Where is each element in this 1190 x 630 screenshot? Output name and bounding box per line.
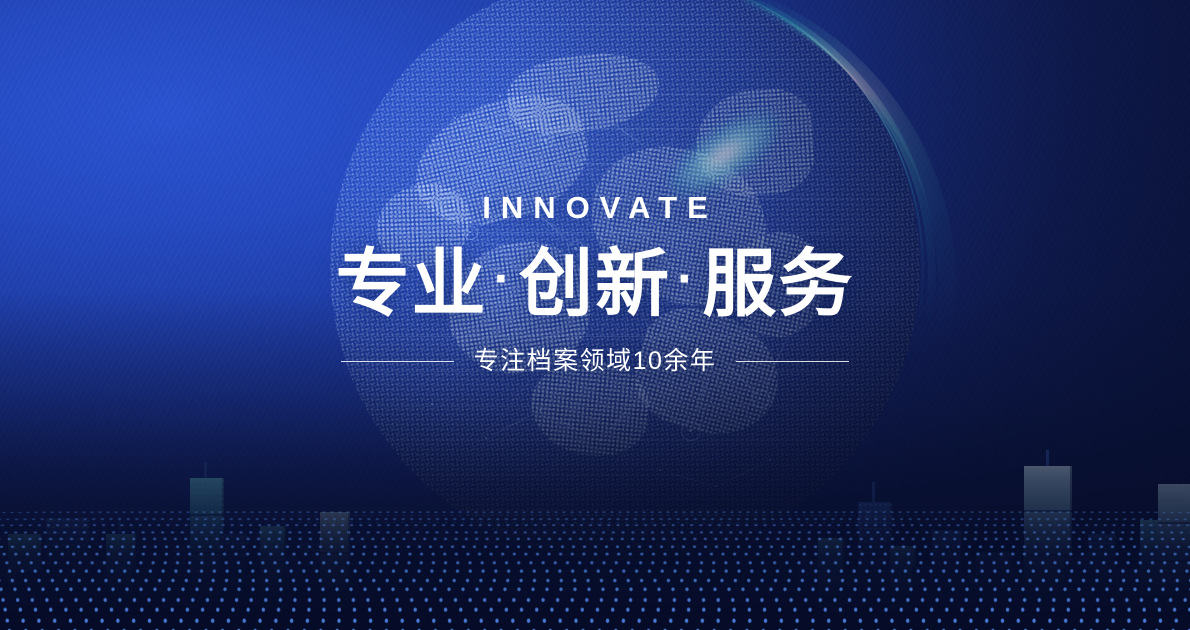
hero-content: INNOVATE 专业·创新·服务 专注档案领域10余年 [0,0,1190,374]
headline-part-3: 服务 [702,242,854,325]
wave-particle-row [0,624,1190,630]
subtitle-row: 专注档案领域10余年 [0,349,1190,374]
headline-separator-2: · [671,250,702,308]
headline-part-1: 专业 [336,242,488,325]
divider-left [341,361,454,362]
headline-part-2: 创新 [519,242,671,325]
eyebrow-text: INNOVATE [0,192,1190,223]
particle-wave-terrain [0,490,1190,630]
wave-particle-row [0,523,1190,530]
wave-particle-row [0,516,1190,522]
divider-right [736,361,849,362]
headline-separator-1: · [488,250,519,308]
subtitle-text: 专注档案领域10余年 [474,349,717,374]
hero-banner: INNOVATE 专业·创新·服务 专注档案领域10余年 [0,0,1190,630]
wave-particle-row [0,510,1190,516]
headline: 专业·创新·服务 [0,246,1190,323]
